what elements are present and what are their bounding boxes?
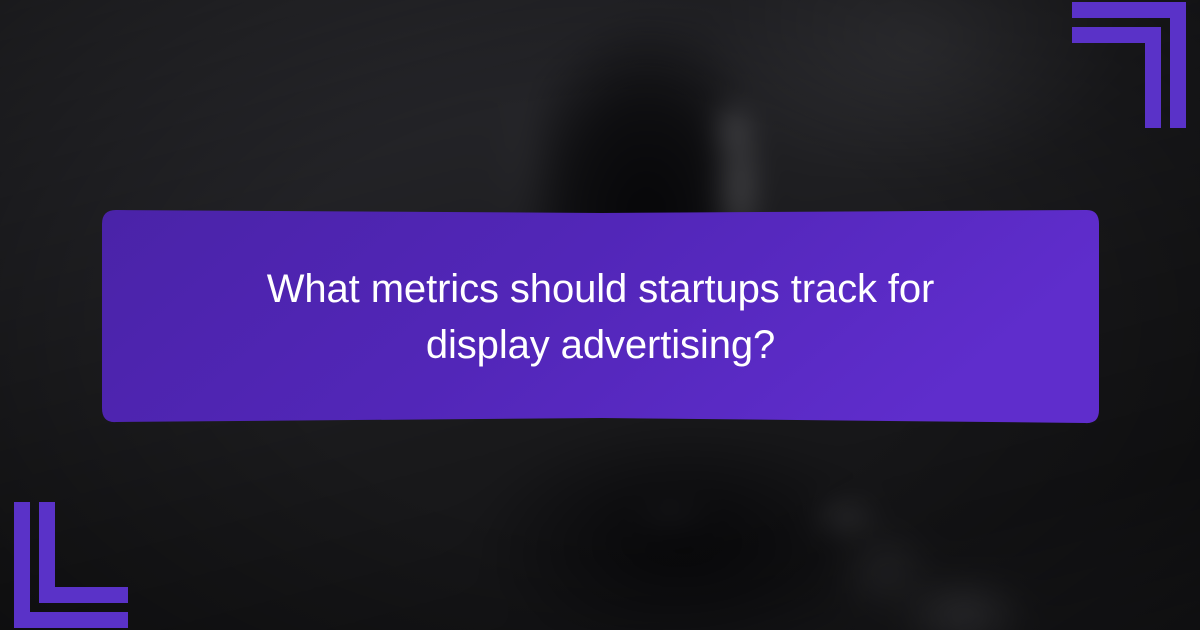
banner-text-container: What metrics should startups track for d… (102, 208, 1099, 425)
page-title: What metrics should startups track for d… (221, 261, 981, 373)
title-banner: What metrics should startups track for d… (102, 208, 1099, 425)
question-card: What metrics should startups track for d… (0, 0, 1200, 630)
